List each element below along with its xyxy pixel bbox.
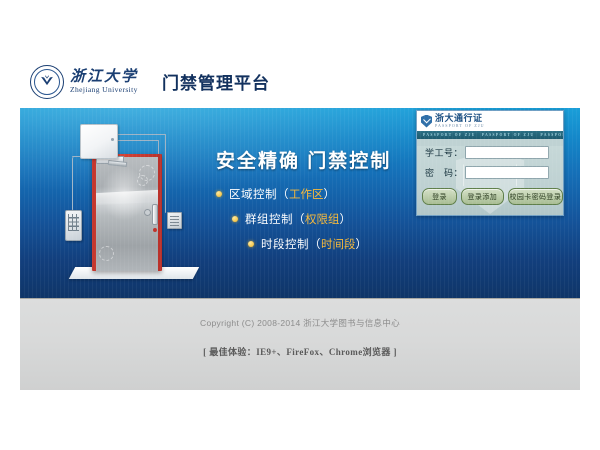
login-button[interactable]: 登录 xyxy=(422,188,457,205)
page-container: 浙江大学 Zhejiang University 门禁管理平台 xyxy=(20,55,580,390)
bullet-dot-icon xyxy=(216,191,222,197)
university-name-cn: 浙江大学 xyxy=(70,70,138,85)
bullet-dot-icon xyxy=(248,241,254,247)
door-lock-indicator xyxy=(153,228,157,232)
feature-list: 区域控制（ 工作区 ） 群组控制（ 权限组 ） 时段控制（ 时间段 ） xyxy=(216,186,368,261)
banner-headline: 安全精确 门禁控制 xyxy=(216,146,391,173)
student-id-row: 学工号： xyxy=(425,146,563,159)
feature-tail: ） xyxy=(356,236,368,252)
keypad-reader xyxy=(65,210,82,241)
door-handle xyxy=(152,204,158,225)
copyright-text: Copyright (C) 2008-2014 浙江大学图书与信息中心 xyxy=(20,299,580,329)
login-add-button[interactable]: 登录添加 xyxy=(461,188,504,205)
campus-card-login-button[interactable]: 校园卡密码登录 xyxy=(508,188,563,205)
cable-icon xyxy=(117,134,166,136)
zju-bird-glyph xyxy=(40,74,55,87)
student-id-input[interactable] xyxy=(465,146,549,159)
browser-recommendation-text: [ 最佳体验：IE9+、FireFox、Chrome浏览器 ] xyxy=(20,329,580,358)
strip-text: PASSPORT OF ZJU xyxy=(417,133,476,137)
site-footer: Copyright (C) 2008-2014 浙江大学图书与信息中心 [ 最佳… xyxy=(20,298,580,390)
gear-icon xyxy=(99,246,114,261)
controller-box xyxy=(80,124,118,159)
cable-icon xyxy=(165,134,167,213)
login-button-row: 登录 登录添加 校园卡密码登录 xyxy=(422,188,563,205)
bullet-dot-icon xyxy=(232,216,238,222)
login-title-en: PASSPORT OF ZJU xyxy=(435,124,485,128)
gear-icon xyxy=(137,175,148,186)
university-name-en: Zhejiang University xyxy=(70,86,138,94)
login-panel: 浙大通行证 PASSPORT OF ZJU PASSPORT OF ZJU PA… xyxy=(416,110,564,216)
student-id-label: 学工号： xyxy=(425,146,465,159)
list-item: 区域控制（ 工作区 ） xyxy=(216,186,368,202)
passport-watermark-strip: PASSPORT OF ZJU PASSPORT OF ZJU PASSPORT… xyxy=(417,131,563,139)
password-label: 密 码： xyxy=(425,166,465,179)
zju-seal-icon xyxy=(30,65,64,99)
list-item: 群组控制（ 权限组 ） xyxy=(232,211,368,227)
cable-icon xyxy=(72,156,87,212)
page-title: 门禁管理平台 xyxy=(162,69,270,94)
login-title-cn: 浙大通行证 xyxy=(435,114,485,123)
feature-highlight: 时间段 xyxy=(321,236,356,252)
university-logo[interactable]: 浙江大学 Zhejiang University xyxy=(30,65,138,99)
cable-icon xyxy=(117,140,159,142)
door-knob xyxy=(144,209,151,216)
password-input[interactable] xyxy=(465,166,549,179)
feature-highlight: 权限组 xyxy=(305,211,340,227)
feature-tail: ） xyxy=(340,211,352,227)
feature-label: 群组控制（ xyxy=(245,211,305,227)
login-form: 学工号： 密 码： 登录 登录添加 校园卡密码登录 xyxy=(417,146,563,216)
login-panel-title: 浙大通行证 PASSPORT OF ZJU xyxy=(435,114,485,128)
list-item: 时段控制（ 时间段 ） xyxy=(248,236,368,252)
access-control-door-illustration xyxy=(48,116,208,291)
shield-icon xyxy=(421,115,432,128)
university-name: 浙江大学 Zhejiang University xyxy=(70,70,138,94)
password-row: 密 码： xyxy=(425,166,563,179)
login-panel-header: 浙大通行证 PASSPORT OF ZJU xyxy=(417,111,563,131)
strip-text: PASSPORT OF ZJU xyxy=(535,133,563,137)
feature-tail: ） xyxy=(324,186,336,202)
hero-banner: 安全精确 门禁控制 区域控制（ 工作区 ） 群组控制（ 权限组 ） 时段控制（ … xyxy=(20,108,580,298)
feature-highlight: 工作区 xyxy=(289,186,324,202)
strip-text: PASSPORT OF ZJU xyxy=(476,133,535,137)
card-reader xyxy=(167,212,182,229)
feature-label: 时段控制（ xyxy=(261,236,321,252)
feature-label: 区域控制（ xyxy=(229,186,289,202)
site-header: 浙江大学 Zhejiang University 门禁管理平台 xyxy=(20,55,580,108)
